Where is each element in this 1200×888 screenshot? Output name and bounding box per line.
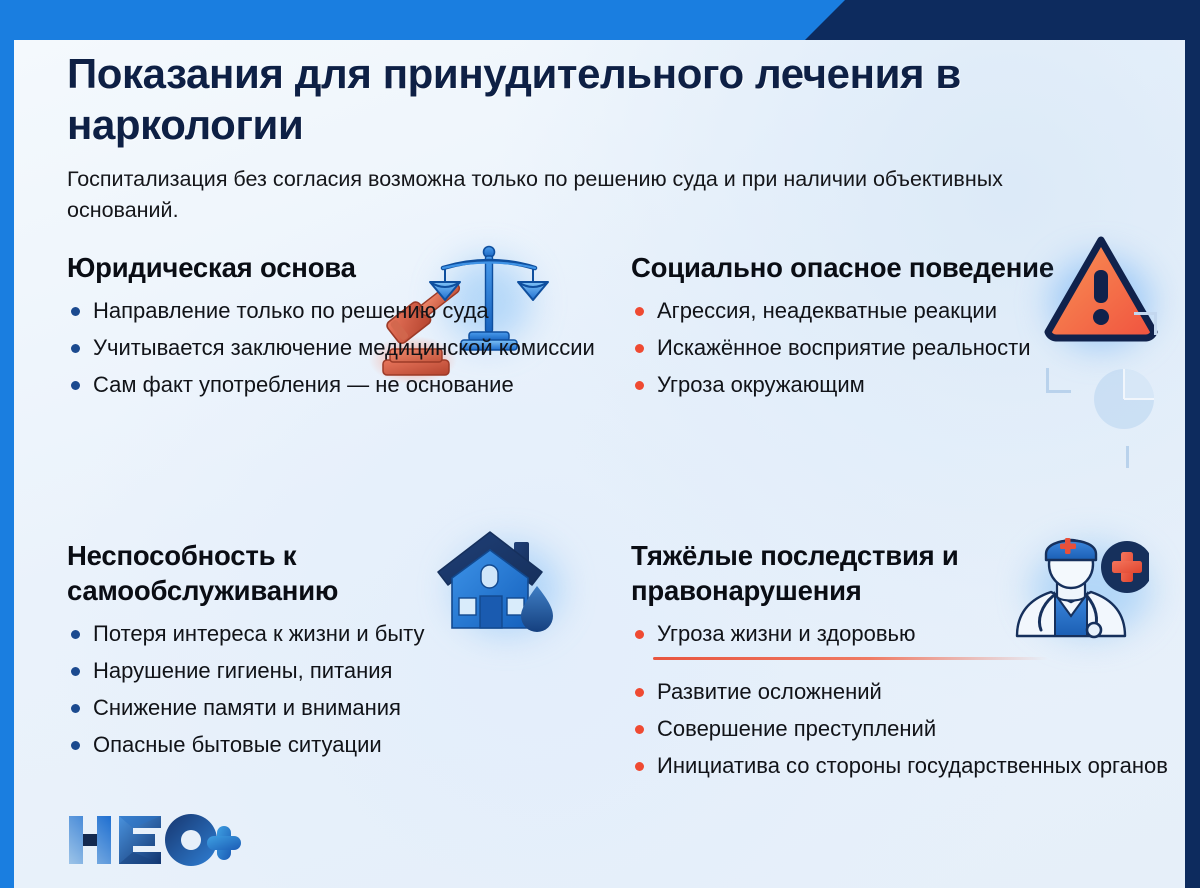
bullet-dot-icon bbox=[635, 307, 644, 316]
bullet-dot-icon bbox=[635, 725, 644, 734]
list-item-text: Совершение преступлений bbox=[657, 716, 936, 741]
list-item-text: Учитывается заключение медицинской комис… bbox=[93, 335, 595, 360]
bullet-dot-icon bbox=[635, 762, 644, 771]
page-subtitle: Госпитализация без согласия возможна тол… bbox=[67, 164, 1027, 226]
bullet-dot-icon bbox=[71, 630, 80, 639]
list-item: Развитие осложнений bbox=[631, 678, 1185, 706]
sections-grid: Юридическая основа bbox=[14, 250, 1185, 888]
list-item: Учитывается заключение медицинской комис… bbox=[67, 334, 627, 362]
bullet-dot-icon bbox=[71, 344, 80, 353]
bullet-dot-icon bbox=[635, 688, 644, 697]
list-item: Угроза жизни и здоровью bbox=[631, 620, 1185, 648]
list-item-text: Инициатива со стороны государственных ор… bbox=[657, 753, 1168, 778]
section-items-list: Потеря интереса к жизни и быту Нарушение… bbox=[67, 620, 627, 759]
list-item-text: Снижение памяти и внимания bbox=[93, 695, 401, 720]
section-divider bbox=[653, 657, 1048, 660]
frame-right-border bbox=[1185, 0, 1200, 888]
list-item-text: Направление только по решению суда bbox=[93, 298, 489, 323]
list-item: Сам факт употребления — не основание bbox=[67, 371, 627, 399]
tick-decor-icon bbox=[1126, 446, 1129, 468]
list-item-text: Опасные бытовые ситуации bbox=[93, 732, 382, 757]
frame-left-border bbox=[0, 0, 14, 888]
list-item: Опасные бытовые ситуации bbox=[67, 731, 627, 759]
list-item-text: Угроза жизни и здоровью bbox=[657, 621, 916, 646]
list-item-text: Развитие осложнений bbox=[657, 679, 882, 704]
bullet-dot-icon bbox=[71, 381, 80, 390]
list-item: Искажённое восприятие реальности bbox=[631, 334, 1185, 362]
section-self-care-inability: Неспособность к самообслуживанию bbox=[67, 538, 627, 768]
section-items-list: Агрессия, неадекватные реакции Искажённо… bbox=[631, 297, 1185, 399]
bullet-dot-icon bbox=[635, 630, 644, 639]
bullet-dot-icon bbox=[635, 381, 644, 390]
bullet-dot-icon bbox=[71, 667, 80, 676]
neo-plus-logo bbox=[67, 812, 242, 866]
infographic-poster: Показания для принудительного лечения в … bbox=[0, 0, 1200, 888]
bullet-dot-icon bbox=[71, 307, 80, 316]
bullet-dot-icon bbox=[71, 741, 80, 750]
list-item: Совершение преступлений bbox=[631, 715, 1185, 743]
list-item: Угроза окружающим bbox=[631, 371, 1185, 399]
header: Показания для принудительного лечения в … bbox=[67, 48, 1027, 226]
list-item-text: Искажённое восприятие реальности bbox=[657, 335, 1030, 360]
list-item: Нарушение гигиены, питания bbox=[67, 657, 627, 685]
list-item: Потеря интереса к жизни и быту bbox=[67, 620, 627, 648]
list-item-text: Сам факт употребления — не основание bbox=[93, 372, 514, 397]
list-item-text: Агрессия, неадекватные реакции bbox=[657, 298, 997, 323]
section-items-list-continued: Развитие осложнений Совершение преступле… bbox=[631, 678, 1185, 780]
list-item: Инициатива со стороны государственных ор… bbox=[631, 752, 1185, 780]
section-legal-basis: Юридическая основа bbox=[67, 250, 627, 408]
section-items-list: Направление только по решению суда Учиты… bbox=[67, 297, 627, 399]
bullet-dot-icon bbox=[635, 344, 644, 353]
list-item: Агрессия, неадекватные реакции bbox=[631, 297, 1185, 325]
page-title: Показания для принудительного лечения в … bbox=[67, 48, 1027, 150]
section-socially-dangerous-behaviour: Социально опасное поведение bbox=[631, 250, 1185, 408]
list-item: Снижение памяти и внимания bbox=[67, 694, 627, 722]
bullet-dot-icon bbox=[71, 704, 80, 713]
list-item-text: Потеря интереса к жизни и быту bbox=[93, 621, 424, 646]
list-item: Направление только по решению суда bbox=[67, 297, 627, 325]
list-item-text: Нарушение гигиены, питания bbox=[93, 658, 392, 683]
poster-canvas: Показания для принудительного лечения в … bbox=[14, 40, 1185, 888]
section-items-list: Угроза жизни и здоровью bbox=[631, 620, 1185, 648]
section-heading: Социально опасное поведение bbox=[631, 250, 1061, 285]
frame-top-blue bbox=[0, 0, 880, 40]
list-item-text: Угроза окружающим bbox=[657, 372, 865, 397]
section-severe-consequences: Тяжёлые последствия и правонарушения bbox=[631, 538, 1185, 789]
